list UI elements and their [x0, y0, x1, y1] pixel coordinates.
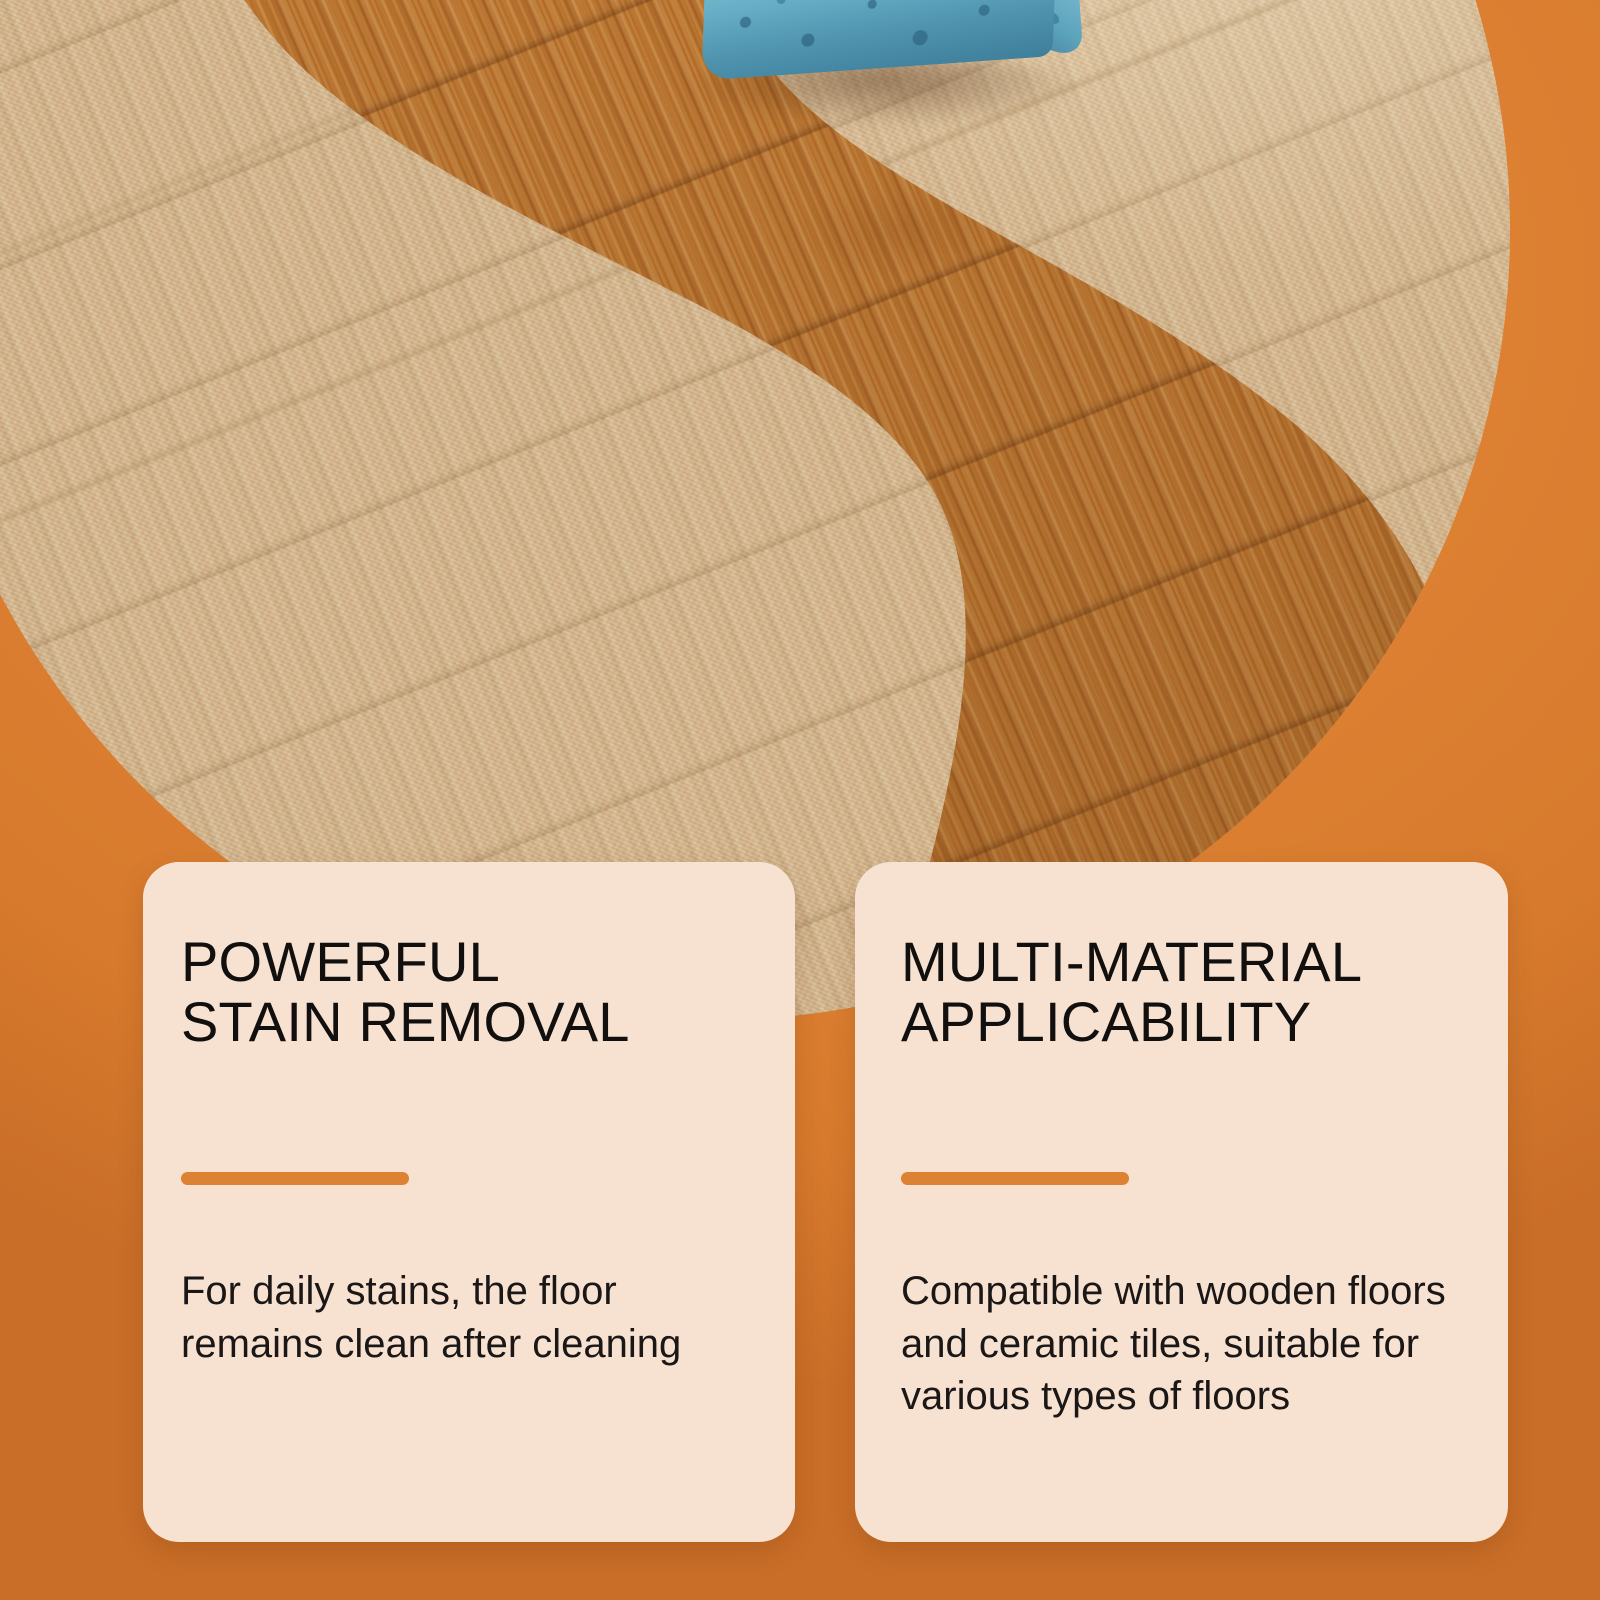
card-heading: MULTI-MATERIAL APPLICABILITY: [901, 932, 1466, 1052]
card-heading: POWERFUL STAIN REMOVAL: [181, 932, 753, 1052]
accent-divider: [181, 1172, 409, 1185]
feature-card-stain-removal: POWERFUL STAIN REMOVAL For daily stains,…: [143, 862, 795, 1542]
card-description: For daily stains, the floor remains clea…: [181, 1265, 741, 1371]
accent-divider: [901, 1172, 1129, 1185]
sponge-front-face: [701, 0, 1055, 81]
card-content: MULTI-MATERIAL APPLICABILITY Compatible …: [855, 862, 1508, 1423]
card-content: POWERFUL STAIN REMOVAL For daily stains,…: [143, 862, 795, 1370]
card-description: Compatible with wooden floors and cerami…: [901, 1265, 1461, 1423]
product-feature-poster: POWERFUL STAIN REMOVAL For daily stains,…: [0, 0, 1600, 1600]
feature-card-multi-material: MULTI-MATERIAL APPLICABILITY Compatible …: [855, 862, 1508, 1542]
